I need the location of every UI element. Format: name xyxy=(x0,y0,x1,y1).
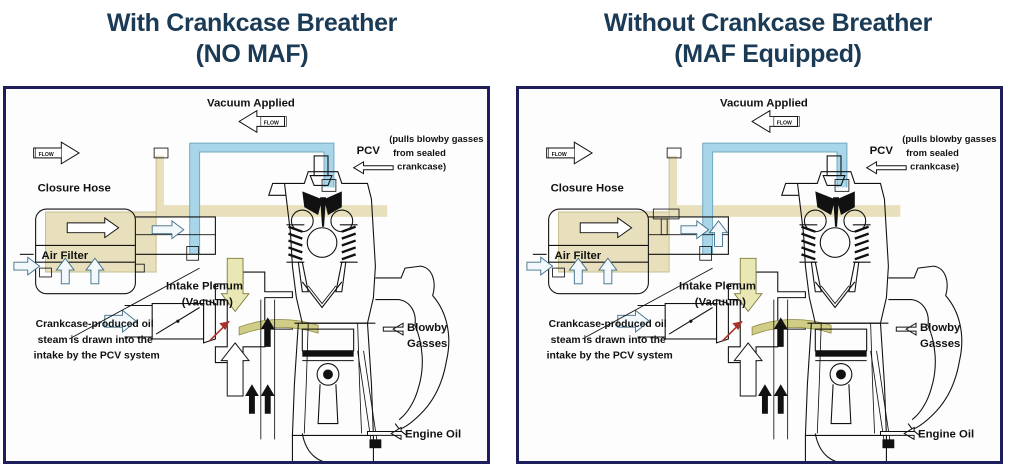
closure-hose-label-right: Closure Hose xyxy=(551,182,624,194)
flow-label-left-right: FLOW xyxy=(552,152,567,158)
pcv-note-line3-left: crankcase) xyxy=(397,162,446,172)
flow-arrow-top-right: FLOW xyxy=(752,111,799,133)
panel-title-right-line2: (MAF Equipped) xyxy=(516,39,1020,70)
air-filter-label-right: Air Filter xyxy=(555,250,602,262)
callout-line1-left: Crankcase-produced oil xyxy=(36,319,154,330)
intake-plenum-label-line1-right: Intake Plenum xyxy=(679,281,756,293)
panel-without-crankcase-breather: Air Filter xyxy=(516,86,1003,464)
blowby-label-line1-left: Blowby xyxy=(407,322,448,334)
flow-label-top-right: FLOW xyxy=(777,120,792,126)
panel-with-crankcase-breather: Air Filter xyxy=(3,86,490,464)
engine-oil-pointer-arrow-right xyxy=(880,428,914,440)
diagram-stage: With Crankcase Breather (NO MAF) Without… xyxy=(0,0,1024,472)
flow-arrow-left-left: FLOW xyxy=(34,142,79,164)
pcv-label-right: PCV xyxy=(870,145,894,157)
flow-label-top-left: FLOW xyxy=(264,120,279,126)
engine-oil-label-right: Engine Oil xyxy=(918,428,974,440)
intake-plenum-label-line1-left: Intake Plenum xyxy=(166,281,243,293)
panel-title-left-line1: With Crankcase Breather xyxy=(107,9,397,37)
blowby-label-line2-left: Gasses xyxy=(407,338,447,350)
panel-title-right-line1: Without Crankcase Breather xyxy=(604,9,932,37)
flow-arrow-top-left: FLOW xyxy=(239,111,286,133)
blowby-label-line1-right: Blowby xyxy=(920,322,961,334)
blowby-pointer-arrow-right xyxy=(896,323,916,335)
pcv-note-line2-right: from sealed xyxy=(906,148,959,158)
panel-title-left: With Crankcase Breather (NO MAF) xyxy=(0,8,504,70)
intake-plenum-label-line2-right: (Vacuum) xyxy=(695,297,746,309)
pcv-note-line1-right: (pulls blowby gasses xyxy=(902,134,996,144)
intake-plenum-label-line2-left: (Vacuum) xyxy=(182,297,233,309)
blowby-label-line2-right: Gasses xyxy=(920,338,960,350)
callout-line3-right: intake by the PCV system xyxy=(547,351,673,362)
vacuum-applied-label-left: Vacuum Applied xyxy=(207,98,295,110)
engine-oil-pointer-arrow-left xyxy=(367,428,401,440)
callout-line2-left: steam is drawn into the xyxy=(38,335,153,346)
pcv-label-left: PCV xyxy=(357,145,381,157)
diagram-canvas-right: Air Filter xyxy=(519,89,1000,461)
plenum-up-arrow-right xyxy=(734,343,762,396)
callout-line1-right: Crankcase-produced oil xyxy=(549,319,667,330)
flow-label-left-left: FLOW xyxy=(39,152,54,158)
pcv-note-line1-left: (pulls blowby gasses xyxy=(389,134,483,144)
pcv-note-line2-left: from sealed xyxy=(393,148,446,158)
blowby-pointer-arrow-left xyxy=(383,323,403,335)
diagram-canvas-left: Air Filter xyxy=(6,89,487,461)
engine-cross-section-left xyxy=(245,156,449,461)
engine-oil-label-left: Engine Oil xyxy=(405,428,461,440)
pcv-pointer-arrow-right xyxy=(867,162,907,174)
oil-steam-stream-left xyxy=(239,320,318,336)
pcv-note-line3-right: crankcase) xyxy=(910,162,959,172)
vacuum-applied-label-right: Vacuum Applied xyxy=(720,98,808,110)
closure-hose-label-left: Closure Hose xyxy=(38,182,111,194)
plenum-up-arrow-left xyxy=(221,343,249,396)
callout-line3-left: intake by the PCV system xyxy=(34,351,160,362)
engine-cross-section-right xyxy=(758,156,962,461)
pcv-pointer-arrow-left xyxy=(354,162,394,174)
panel-title-right: Without Crankcase Breather (MAF Equipped… xyxy=(516,8,1020,70)
air-filter-label-left: Air Filter xyxy=(42,250,89,262)
callout-line2-right: steam is drawn into the xyxy=(551,335,666,346)
oil-steam-stream-right xyxy=(752,320,831,336)
flow-arrow-left-right: FLOW xyxy=(547,142,592,164)
panel-title-left-line2: (NO MAF) xyxy=(0,39,504,70)
